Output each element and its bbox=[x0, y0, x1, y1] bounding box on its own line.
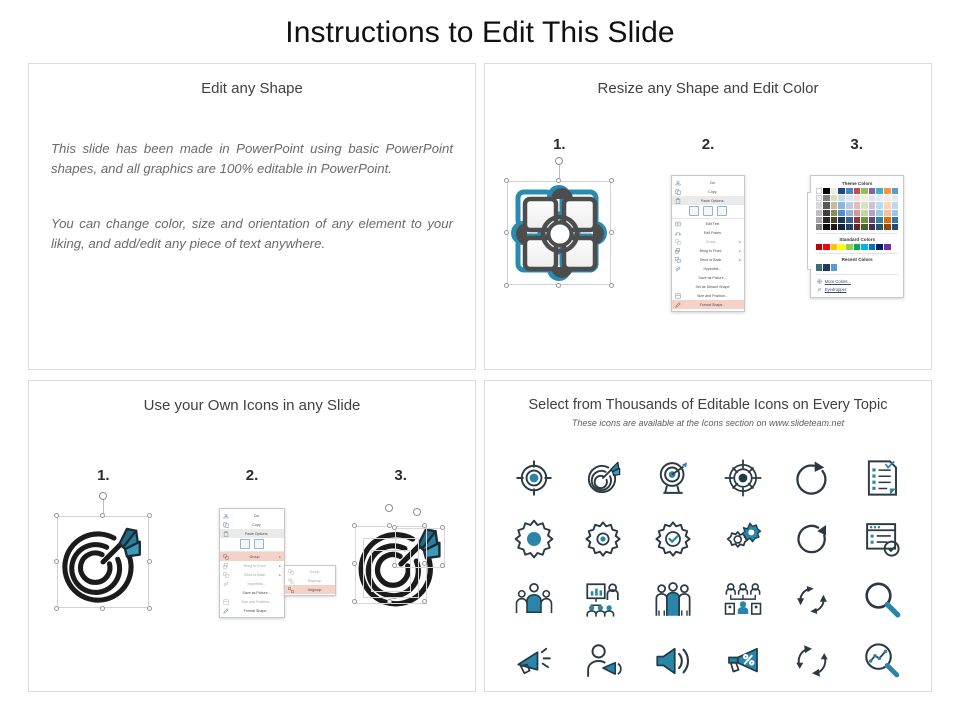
theme-tint-swatch[interactable] bbox=[823, 210, 830, 216]
menu-item-hyperlink[interactable]: Hyperlink... bbox=[220, 579, 284, 588]
resize-handle[interactable] bbox=[387, 523, 392, 528]
sync-arrows-icon[interactable] bbox=[791, 579, 833, 621]
standard-color-swatch[interactable] bbox=[869, 244, 876, 250]
resize-handle[interactable] bbox=[352, 523, 357, 528]
scissors-icon bbox=[674, 179, 682, 186]
menu-label: Save as Picture... bbox=[232, 591, 281, 595]
step-number: 3. bbox=[326, 467, 475, 484]
copy-icon bbox=[674, 188, 682, 195]
resize-handle[interactable] bbox=[422, 561, 427, 566]
standard-color-swatch[interactable] bbox=[876, 244, 883, 250]
theme-tint-row[interactable] bbox=[816, 217, 898, 223]
resize-handle-middle-right[interactable] bbox=[147, 559, 152, 564]
menu-item-send-to-back[interactable]: Send to Back ▸ bbox=[220, 570, 284, 579]
resize-handle-bottom-center[interactable] bbox=[100, 606, 105, 611]
resize-handle[interactable] bbox=[387, 599, 392, 604]
four-quadrant-shape-selected[interactable] bbox=[507, 181, 611, 285]
menu-label: Edit Points bbox=[684, 231, 741, 235]
standard-color-swatch[interactable] bbox=[846, 244, 853, 250]
resize-handle-top-right[interactable] bbox=[609, 178, 614, 183]
document-check-icon[interactable] bbox=[861, 518, 903, 560]
more-colors-item[interactable]: More Colors... bbox=[816, 278, 898, 286]
paste-keep-formatting-icon[interactable] bbox=[689, 206, 699, 216]
menu-label: Paste Options: bbox=[684, 199, 741, 203]
submenu-arrow-icon: ▸ bbox=[277, 564, 281, 568]
paste-option-buttons[interactable] bbox=[672, 205, 744, 218]
menu-label: Format Shape... bbox=[684, 303, 741, 307]
theme-tint-swatch[interactable] bbox=[823, 202, 830, 208]
step-number: 2. bbox=[178, 467, 327, 484]
target-dart-selected[interactable] bbox=[57, 516, 149, 608]
standard-color-swatch[interactable] bbox=[838, 244, 845, 250]
own-icons-step-3: 3. bbox=[326, 467, 475, 644]
menu-label: Paste Options: bbox=[232, 532, 281, 536]
theme-tint-swatch[interactable] bbox=[831, 202, 838, 208]
send-back-icon bbox=[674, 256, 682, 263]
resize-handle[interactable] bbox=[352, 561, 357, 566]
color-palette-flyout[interactable]: Theme Colors Standard Colors Recent Colo… bbox=[810, 175, 904, 298]
panel-title-icon-library: Select from Thousands of Editable Icons … bbox=[485, 397, 931, 413]
selection-frame-dart bbox=[395, 528, 445, 568]
menu-label: Set as Default Shape bbox=[684, 285, 741, 289]
menu-label: Cut bbox=[232, 514, 281, 518]
submenu-arrow-icon: ▸ bbox=[277, 555, 281, 559]
target-stand-icon[interactable] bbox=[652, 457, 694, 499]
theme-tint-swatch[interactable] bbox=[854, 217, 861, 223]
theme-color-swatch[interactable] bbox=[831, 188, 838, 194]
step-number: 1. bbox=[485, 136, 634, 153]
menu-item-save-as-picture[interactable]: Save as Picture... bbox=[220, 588, 284, 597]
palette-divider bbox=[816, 274, 898, 275]
theme-tint-swatch[interactable] bbox=[861, 224, 868, 230]
theme-color-swatch[interactable] bbox=[846, 188, 853, 194]
presentation-training-icon[interactable] bbox=[582, 579, 624, 621]
submenu-arrow-icon: ▸ bbox=[737, 249, 741, 253]
theme-tint-swatch[interactable] bbox=[816, 210, 823, 216]
theme-tint-row[interactable] bbox=[816, 202, 898, 208]
theme-tint-swatch[interactable] bbox=[861, 195, 868, 201]
bring-front-icon bbox=[222, 562, 230, 569]
menu-item-edit-points[interactable]: Edit Points bbox=[672, 228, 744, 237]
theme-tint-swatch[interactable] bbox=[861, 202, 868, 208]
menu-item-paste-options[interactable]: Paste Options: bbox=[220, 529, 284, 538]
menu-label: Save as Picture... bbox=[684, 276, 741, 280]
menu-item-group[interactable]: Group ▸ bbox=[220, 551, 284, 561]
menu-item-format-shape[interactable]: Format Shape... bbox=[220, 606, 284, 615]
crosshair-scope-icon[interactable] bbox=[722, 457, 764, 499]
loudspeaker-icon[interactable] bbox=[652, 640, 694, 682]
theme-color-swatch[interactable] bbox=[838, 188, 845, 194]
theme-tint-swatch[interactable] bbox=[876, 202, 883, 208]
menu-label: Cut bbox=[684, 181, 741, 185]
theme-tint-swatch[interactable] bbox=[869, 224, 876, 230]
edit-points-icon bbox=[674, 229, 682, 236]
resize-step-3: 3. Theme Colors Standard Colors Recent C… bbox=[782, 136, 931, 313]
resize-handle-bottom-left[interactable] bbox=[54, 606, 59, 611]
submenu-item-ungroup[interactable]: Ungroup bbox=[285, 585, 335, 594]
theme-color-swatch[interactable] bbox=[869, 188, 876, 194]
theme-tint-swatch[interactable] bbox=[816, 224, 823, 230]
theme-tint-swatch[interactable] bbox=[831, 217, 838, 223]
step-artwork: Cut Copy Paste Options: bbox=[178, 494, 327, 644]
selection-frame bbox=[507, 181, 611, 285]
magnifier-chart-icon[interactable] bbox=[861, 640, 903, 682]
standard-color-swatch[interactable] bbox=[831, 244, 838, 250]
resize-handle[interactable] bbox=[392, 563, 397, 568]
theme-color-swatch[interactable] bbox=[816, 188, 823, 194]
context-menu-format-shape[interactable]: Cut Copy Paste Options: bbox=[671, 175, 745, 312]
gear-filled-icon[interactable] bbox=[513, 518, 555, 560]
theme-tint-swatch[interactable] bbox=[838, 224, 845, 230]
menu-label: Bring to Front bbox=[684, 249, 737, 253]
menu-label: Hyperlink... bbox=[684, 267, 741, 271]
standard-colors-row[interactable] bbox=[816, 244, 898, 250]
theme-tint-swatch[interactable] bbox=[838, 195, 845, 201]
people-group-icon[interactable] bbox=[513, 579, 555, 621]
paste-option-buttons[interactable] bbox=[220, 538, 284, 551]
paste-merge-formatting-icon[interactable] bbox=[703, 206, 713, 216]
theme-tint-swatch[interactable] bbox=[869, 210, 876, 216]
resize-handle[interactable] bbox=[392, 525, 397, 530]
theme-tint-swatch[interactable] bbox=[892, 202, 899, 208]
submenu-arrow-icon: ▸ bbox=[737, 258, 741, 262]
step-artwork: Cut Copy Paste Options: bbox=[634, 163, 783, 313]
rotation-stem bbox=[559, 164, 560, 179]
resize-handle-bottom-right[interactable] bbox=[147, 606, 152, 611]
menu-label: Send to Back bbox=[684, 258, 737, 262]
theme-tint-swatch[interactable] bbox=[892, 217, 899, 223]
theme-color-swatch[interactable] bbox=[884, 188, 891, 194]
standard-color-swatch[interactable] bbox=[823, 244, 830, 250]
resize-step-1: 1. bbox=[485, 136, 634, 313]
panel-title-resize-shape: Resize any Shape and Edit Color bbox=[485, 80, 931, 97]
theme-color-swatch[interactable] bbox=[876, 188, 883, 194]
menu-label: Regroup bbox=[297, 579, 332, 583]
megaphone-percent-icon[interactable] bbox=[722, 640, 764, 682]
palette-divider bbox=[816, 233, 898, 234]
resize-step-2: 2. Cut Copy bbox=[634, 136, 783, 313]
menu-item-set-default-shape[interactable]: Set as Default Shape bbox=[672, 282, 744, 291]
menu-item-cut[interactable]: Cut bbox=[672, 178, 744, 187]
resize-steps: 1. bbox=[485, 136, 931, 313]
own-icons-step-2: 2. Cut Copy bbox=[178, 467, 327, 644]
rotation-handle[interactable] bbox=[385, 504, 393, 512]
paste-icon bbox=[222, 530, 230, 537]
theme-tint-swatch[interactable] bbox=[823, 224, 830, 230]
theme-tint-swatch[interactable] bbox=[892, 195, 899, 201]
theme-tint-swatch[interactable] bbox=[884, 210, 891, 216]
step-number: 2. bbox=[634, 136, 783, 153]
theme-tint-swatch[interactable] bbox=[861, 210, 868, 216]
slide-canvas: Instructions to Edit This Slide Edit any… bbox=[0, 0, 960, 720]
menu-label: Copy bbox=[232, 523, 281, 527]
megaphone-icon[interactable] bbox=[513, 640, 555, 682]
theme-tint-swatch[interactable] bbox=[846, 224, 853, 230]
menu-item-size-and-position[interactable]: Size and Position... bbox=[672, 291, 744, 300]
menu-label: Format Shape... bbox=[232, 609, 281, 613]
menu-label: Group bbox=[297, 570, 332, 574]
recent-color-swatch[interactable] bbox=[816, 264, 823, 270]
recent-color-swatch[interactable] bbox=[831, 264, 838, 270]
theme-tint-swatch[interactable] bbox=[892, 224, 899, 230]
edit-shape-paragraph-1: This slide has been made in PowerPoint u… bbox=[51, 139, 453, 180]
menu-item-size-and-position[interactable]: Size and Position... bbox=[220, 597, 284, 606]
target-dart-ungrouped[interactable] bbox=[353, 516, 449, 612]
menu-item-cut[interactable]: Cut bbox=[220, 511, 284, 520]
step-artwork: Theme Colors Standard Colors Recent Colo… bbox=[782, 163, 931, 313]
theme-tint-swatch[interactable] bbox=[823, 217, 830, 223]
theme-tint-swatch[interactable] bbox=[892, 210, 899, 216]
theme-tint-swatch[interactable] bbox=[816, 202, 823, 208]
theme-tint-swatch[interactable] bbox=[876, 210, 883, 216]
magnifier-icon[interactable] bbox=[861, 579, 903, 621]
menu-item-copy[interactable]: Copy bbox=[220, 520, 284, 529]
theme-color-swatch[interactable] bbox=[892, 188, 899, 194]
theme-tint-swatch[interactable] bbox=[854, 224, 861, 230]
eyedropper-item[interactable]: Eyedropper bbox=[816, 286, 898, 294]
theme-colors-tints[interactable] bbox=[816, 195, 898, 230]
standard-color-swatch[interactable] bbox=[884, 244, 891, 250]
send-back-icon bbox=[222, 571, 230, 578]
theme-tint-swatch[interactable] bbox=[831, 224, 838, 230]
hyperlink-icon bbox=[674, 265, 682, 272]
ungroup-icon bbox=[287, 586, 295, 593]
resize-handle-bottom-center[interactable] bbox=[556, 283, 561, 288]
theme-tint-swatch[interactable] bbox=[884, 224, 891, 230]
own-icons-step-1: 1. bbox=[29, 467, 178, 644]
group-icon bbox=[287, 568, 295, 575]
step-number: 1. bbox=[29, 467, 178, 484]
eyedropper-label: Eyedropper bbox=[825, 287, 847, 292]
size-position-icon bbox=[674, 292, 682, 299]
theme-tint-swatch[interactable] bbox=[823, 195, 830, 201]
menu-label: Group bbox=[232, 555, 277, 559]
icon-library-subtitle: These icons are available at the Icons s… bbox=[485, 418, 931, 428]
gear-icon[interactable] bbox=[582, 518, 624, 560]
submenu-item-group[interactable]: Group bbox=[285, 567, 335, 576]
more-colors-icon bbox=[816, 278, 823, 285]
team-people-icon[interactable] bbox=[652, 579, 694, 621]
theme-tint-swatch[interactable] bbox=[846, 195, 853, 201]
theme-colors-base-row[interactable] bbox=[816, 188, 898, 194]
theme-tint-swatch[interactable] bbox=[869, 202, 876, 208]
paste-icon bbox=[674, 197, 682, 204]
panel-icon-library: Select from Thousands of Editable Icons … bbox=[484, 380, 932, 692]
eyedropper-icon bbox=[816, 286, 823, 293]
paste-keep-formatting-icon[interactable] bbox=[240, 539, 250, 549]
save-picture-icon bbox=[222, 589, 230, 596]
resize-handle[interactable] bbox=[422, 523, 427, 528]
standard-color-swatch[interactable] bbox=[861, 244, 868, 250]
theme-tint-swatch[interactable] bbox=[884, 195, 891, 201]
scissors-icon bbox=[222, 512, 230, 519]
menu-label: Send to Back bbox=[232, 573, 277, 577]
menu-item-paste-options[interactable]: Paste Options: bbox=[672, 196, 744, 205]
theme-tint-swatch[interactable] bbox=[861, 217, 868, 223]
theme-tint-swatch[interactable] bbox=[854, 210, 861, 216]
menu-item-format-shape[interactable]: Format Shape... bbox=[672, 300, 744, 309]
format-shape-icon bbox=[222, 607, 230, 614]
checklist-document-icon[interactable] bbox=[861, 457, 903, 499]
group-icon bbox=[674, 238, 682, 245]
panel-resize-shape-edit-color: Resize any Shape and Edit Color 1. bbox=[484, 63, 932, 370]
edit-shape-paragraph-2: You can change color, size and orientati… bbox=[51, 214, 453, 255]
gear-check-icon[interactable] bbox=[652, 518, 694, 560]
refresh-arrow-icon[interactable] bbox=[791, 457, 833, 499]
menu-item-send-to-back[interactable]: Send to Back ▸ bbox=[672, 255, 744, 264]
menu-item-save-as-picture[interactable]: Save as Picture... bbox=[672, 273, 744, 282]
circular-arrows-icon[interactable] bbox=[791, 640, 833, 682]
standard-color-swatch[interactable] bbox=[854, 244, 861, 250]
menu-item-hyperlink[interactable]: Hyperlink... bbox=[672, 264, 744, 273]
submenu-arrow-icon: ▸ bbox=[277, 573, 281, 577]
page-title: Instructions to Edit This Slide bbox=[0, 16, 960, 50]
theme-tint-swatch[interactable] bbox=[884, 217, 891, 223]
save-picture-icon bbox=[674, 274, 682, 281]
paste-picture-icon[interactable] bbox=[254, 539, 264, 549]
theme-tint-swatch[interactable] bbox=[854, 195, 861, 201]
recent-colors-label: Recent Colors bbox=[817, 257, 898, 262]
edit-shape-text-block: This slide has been made in PowerPoint u… bbox=[51, 139, 453, 255]
regroup-icon bbox=[287, 577, 295, 584]
target-dart-icon[interactable] bbox=[582, 457, 624, 499]
theme-tint-swatch[interactable] bbox=[869, 195, 876, 201]
panel-use-own-icons: Use your Own Icons in any Slide 1. bbox=[28, 380, 476, 692]
circular-arrow-icon[interactable] bbox=[791, 518, 833, 560]
theme-tint-swatch[interactable] bbox=[831, 195, 838, 201]
default-shape-icon bbox=[674, 283, 682, 290]
rotation-handle[interactable] bbox=[413, 508, 421, 516]
theme-color-swatch[interactable] bbox=[823, 188, 830, 194]
step-artwork bbox=[326, 494, 475, 644]
selection-frame bbox=[57, 516, 149, 608]
menu-item-bring-to-front[interactable]: Bring to Front ▸ bbox=[672, 246, 744, 255]
resize-handle-middle-right[interactable] bbox=[609, 230, 614, 235]
theme-colors-label: Theme Colors bbox=[817, 181, 898, 186]
theme-tint-swatch[interactable] bbox=[846, 210, 853, 216]
rotation-handle[interactable] bbox=[99, 492, 107, 500]
rotation-handle[interactable] bbox=[555, 157, 563, 165]
icon-gallery bbox=[499, 447, 917, 691]
edit-text-icon bbox=[674, 220, 682, 227]
resize-handle[interactable] bbox=[440, 563, 445, 568]
standard-color-swatch[interactable] bbox=[816, 244, 823, 250]
theme-tint-row[interactable] bbox=[816, 210, 898, 216]
submenu-arrow-icon: ▸ bbox=[737, 240, 741, 244]
theme-tint-swatch[interactable] bbox=[846, 217, 853, 223]
step-number: 3. bbox=[782, 136, 931, 153]
theme-tint-swatch[interactable] bbox=[831, 210, 838, 216]
crosshair-target-icon[interactable] bbox=[513, 457, 555, 499]
person-megaphone-icon[interactable] bbox=[582, 640, 624, 682]
menu-label: Size and Position... bbox=[232, 600, 281, 604]
rotation-stem bbox=[103, 499, 104, 514]
more-colors-label: More Colors... bbox=[825, 279, 851, 284]
copy-icon bbox=[222, 521, 230, 528]
recent-colors-row[interactable] bbox=[816, 264, 898, 270]
bring-front-icon bbox=[674, 247, 682, 254]
theme-tint-swatch[interactable] bbox=[884, 202, 891, 208]
menu-item-group[interactable]: Group ▸ bbox=[672, 237, 744, 246]
theme-tint-swatch[interactable] bbox=[876, 224, 883, 230]
resize-handle[interactable] bbox=[422, 599, 427, 604]
menu-label: Group bbox=[684, 240, 737, 244]
menu-label: Copy bbox=[684, 190, 741, 194]
hyperlink-icon bbox=[222, 580, 230, 587]
own-icons-steps: 1. bbox=[29, 467, 475, 644]
menu-label: Size and Position... bbox=[684, 294, 741, 298]
standard-colors-label: Standard Colors bbox=[817, 237, 898, 242]
theme-tint-swatch[interactable] bbox=[869, 217, 876, 223]
panel-title-own-icons: Use your Own Icons in any Slide bbox=[29, 397, 475, 414]
theme-tint-swatch[interactable] bbox=[876, 195, 883, 201]
double-gear-icon[interactable] bbox=[722, 518, 764, 560]
panel-title-edit-shape: Edit any Shape bbox=[29, 80, 475, 97]
resize-handle-top-right[interactable] bbox=[147, 513, 152, 518]
resize-handle[interactable] bbox=[352, 599, 357, 604]
theme-tint-swatch[interactable] bbox=[846, 202, 853, 208]
theme-tint-swatch[interactable] bbox=[816, 217, 823, 223]
step-artwork bbox=[29, 494, 178, 644]
submenu-item-regroup[interactable]: Regroup bbox=[285, 576, 335, 585]
theme-tint-row[interactable] bbox=[816, 224, 898, 230]
org-chart-team-icon[interactable] bbox=[722, 579, 764, 621]
resize-handle[interactable] bbox=[440, 525, 445, 530]
menu-label: Bring to Front bbox=[232, 564, 277, 568]
recent-color-swatch[interactable] bbox=[823, 264, 830, 270]
theme-color-swatch[interactable] bbox=[861, 188, 868, 194]
group-submenu[interactable]: Group Regroup bbox=[284, 565, 336, 596]
resize-handle-bottom-right[interactable] bbox=[609, 283, 614, 288]
theme-color-swatch[interactable] bbox=[854, 188, 861, 194]
theme-tint-swatch[interactable] bbox=[854, 202, 861, 208]
panel-edit-any-shape: Edit any Shape This slide has been made … bbox=[28, 63, 476, 370]
step-artwork bbox=[485, 163, 634, 313]
theme-tint-swatch[interactable] bbox=[838, 217, 845, 223]
menu-label: Ungroup bbox=[297, 588, 332, 592]
paste-picture-icon[interactable] bbox=[717, 206, 727, 216]
menu-item-edit-text[interactable]: Edit Text bbox=[672, 218, 744, 228]
menu-label: Hyperlink... bbox=[232, 582, 281, 586]
theme-tint-swatch[interactable] bbox=[838, 210, 845, 216]
format-shape-icon bbox=[674, 301, 682, 308]
theme-tint-row[interactable] bbox=[816, 195, 898, 201]
theme-tint-swatch[interactable] bbox=[816, 195, 823, 201]
resize-handle-bottom-left[interactable] bbox=[504, 283, 509, 288]
menu-item-bring-to-front[interactable]: Bring to Front ▸ bbox=[220, 561, 284, 570]
palette-divider bbox=[816, 253, 898, 254]
group-icon bbox=[222, 553, 230, 560]
context-menu-ungroup[interactable]: Cut Copy Paste Options: bbox=[219, 508, 285, 618]
menu-item-copy[interactable]: Copy bbox=[672, 187, 744, 196]
menu-label: Edit Text bbox=[684, 222, 741, 226]
size-position-icon bbox=[222, 598, 230, 605]
theme-tint-swatch[interactable] bbox=[838, 202, 845, 208]
theme-tint-swatch[interactable] bbox=[876, 217, 883, 223]
